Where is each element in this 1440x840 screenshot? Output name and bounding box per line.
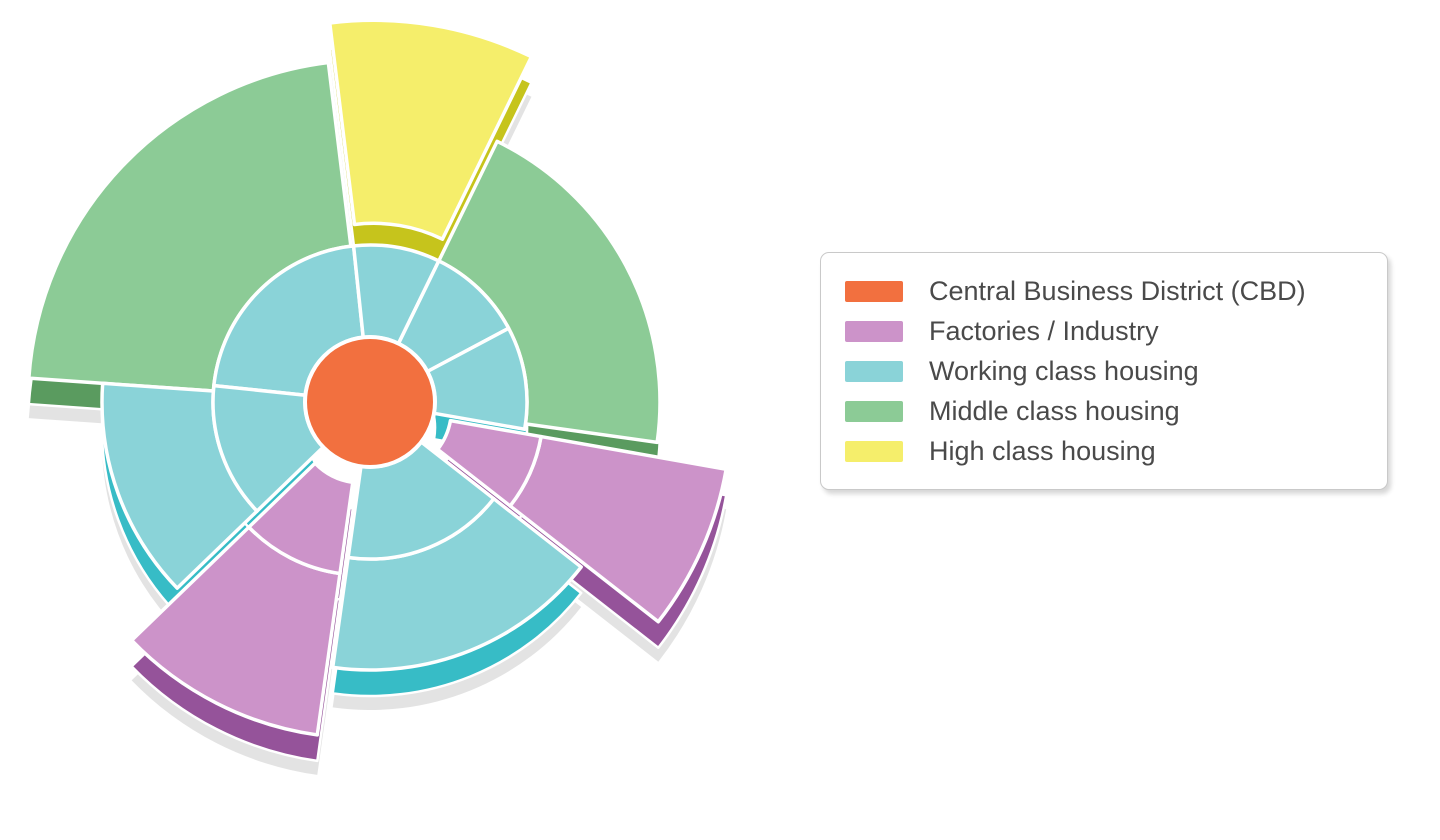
legend-item[interactable]: Working class housing (845, 351, 1365, 391)
legend-item[interactable]: Middle class housing (845, 391, 1365, 431)
legend-swatch-working (845, 361, 903, 382)
legend-item[interactable]: Central Business District (CBD) (845, 271, 1365, 311)
legend-swatch-high (845, 441, 903, 462)
legend-label-high: High class housing (929, 438, 1156, 465)
legend-label-working: Working class housing (929, 358, 1199, 385)
legend-swatch-factories (845, 321, 903, 342)
legend-label-middle: Middle class housing (929, 398, 1180, 425)
legend-swatch-middle (845, 401, 903, 422)
legend-label-cbd: Central Business District (CBD) (929, 278, 1306, 305)
legend-item[interactable]: High class housing (845, 431, 1365, 471)
chart-legend: Central Business District (CBD) Factorie… (820, 252, 1388, 490)
legend-item[interactable]: Factories / Industry (845, 311, 1365, 351)
legend-swatch-cbd (845, 281, 903, 302)
legend-label-factories: Factories / Industry (929, 318, 1159, 345)
pie-slice-cbd[interactable] (305, 337, 435, 467)
sunburst-chart: Central Business District (CBD) Factorie… (0, 0, 1440, 840)
